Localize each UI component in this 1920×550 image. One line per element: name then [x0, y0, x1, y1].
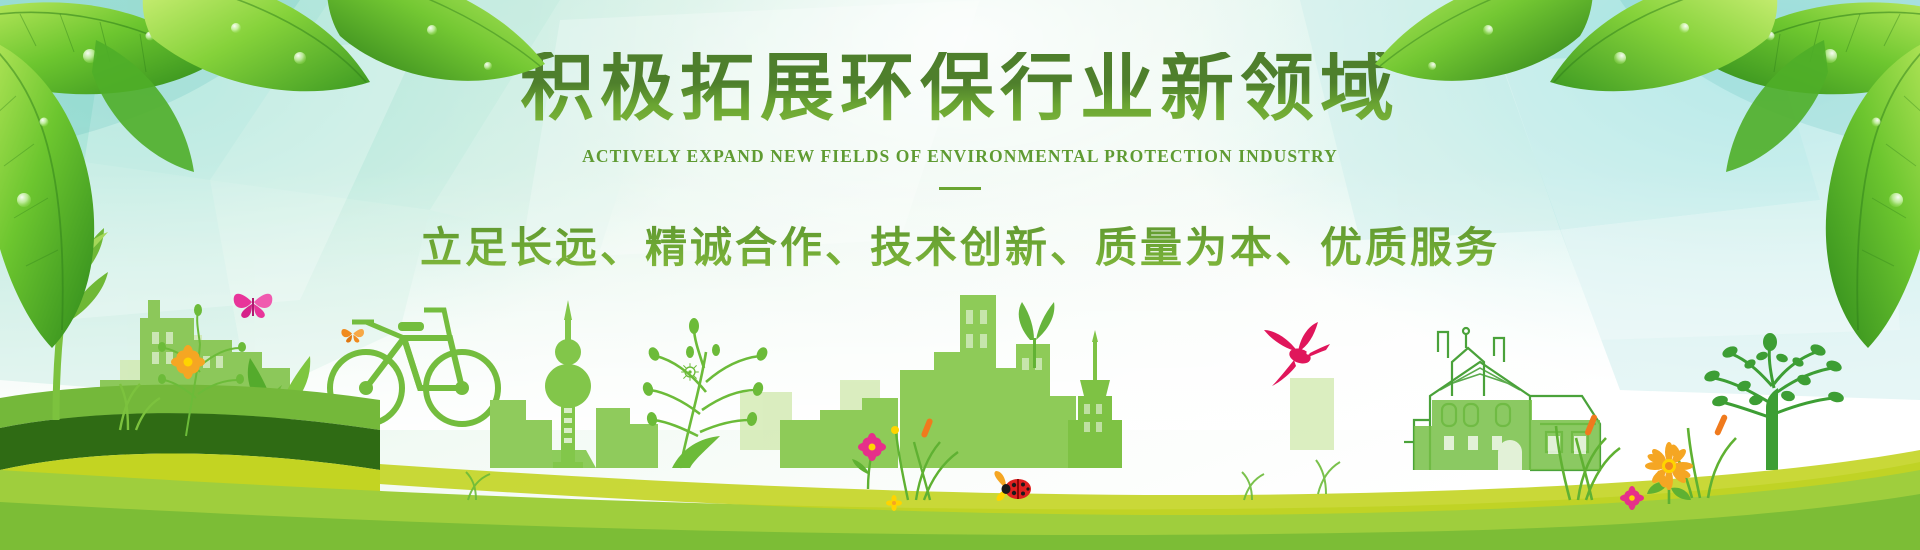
leaf-cluster-left — [0, 0, 545, 348]
eco-banner: 积极拓展环保行业新领域 ACTIVELY EXPAND NEW FIELDS O… — [0, 0, 1920, 550]
leaf-decorations — [0, 0, 1920, 550]
leaf-cluster-right — [1375, 0, 1920, 348]
